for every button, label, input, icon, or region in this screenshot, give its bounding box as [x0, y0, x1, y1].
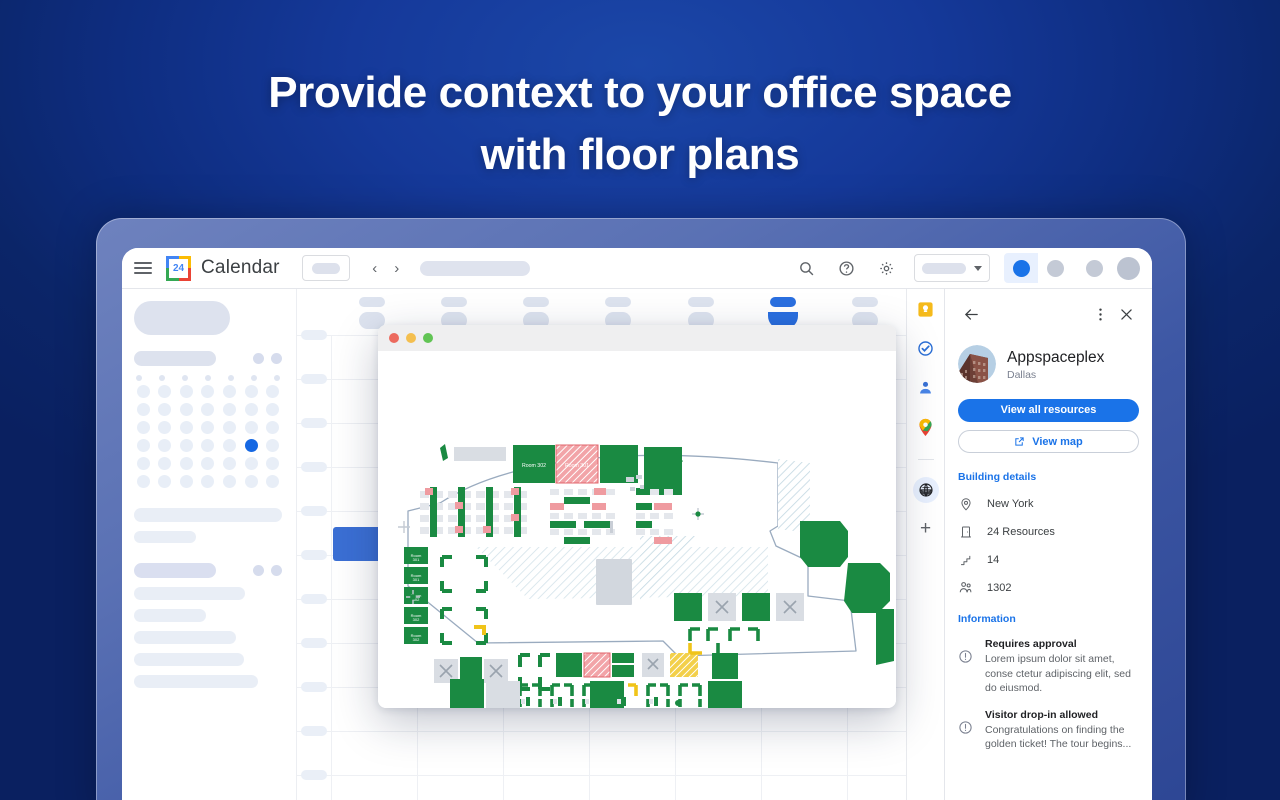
svg-text:302: 302	[413, 637, 420, 642]
floor-plan-canvas[interactable]: Room 302 Room 301	[378, 351, 896, 708]
keep-icon[interactable]	[917, 301, 934, 323]
hero-headline: Provide context to your office space wit…	[0, 62, 1280, 186]
svg-text:302: 302	[413, 617, 420, 622]
view-mode-option-2[interactable]	[1038, 253, 1072, 283]
detail-row-floors: 14	[958, 552, 1139, 567]
detail-value: 14	[987, 554, 999, 566]
apps-icon[interactable]	[1086, 260, 1103, 277]
search-icon[interactable]	[795, 257, 817, 279]
view-map-button[interactable]: View map	[958, 430, 1139, 453]
window-close-button[interactable]	[389, 333, 399, 343]
building-detail-panel: Appspaceplex Dallas View all resources V…	[944, 289, 1152, 800]
search-people-block	[134, 508, 282, 543]
mini-calendar-grid[interactable]	[134, 385, 282, 488]
calendar-sidebar	[122, 289, 296, 800]
help-icon[interactable]	[835, 257, 857, 279]
door-icon	[958, 524, 973, 539]
gear-icon[interactable]	[875, 257, 897, 279]
window-title-bar[interactable]	[378, 325, 896, 351]
add-panel-button[interactable]: +	[920, 520, 931, 537]
mini-calendar-today	[245, 439, 258, 452]
view-mode-option-1[interactable]	[1004, 253, 1038, 283]
contacts-icon[interactable]	[917, 379, 934, 401]
svg-text:301: 301	[413, 577, 420, 582]
building-city: Dallas	[1007, 369, 1104, 381]
app-title: Calendar	[201, 257, 280, 279]
create-event-button[interactable]	[134, 301, 230, 335]
detail-value: 24 Resources	[987, 526, 1055, 538]
stairs-icon	[958, 552, 973, 567]
next-period-button[interactable]: ›	[386, 257, 408, 279]
people-icon	[958, 580, 973, 595]
info-circle-icon	[958, 720, 973, 735]
today-button[interactable]	[302, 255, 350, 281]
calendar-logo-day: 24	[169, 259, 188, 278]
information-title: Visitor drop-in allowed	[985, 709, 1139, 721]
calendar-toolbar: 24 Calendar ‹ ›	[122, 248, 1152, 289]
workspace-icon[interactable]	[913, 477, 939, 503]
side-panel-rail: +	[906, 289, 944, 800]
floor-plan-window[interactable]: Room 302 Room 301	[378, 325, 896, 708]
google-calendar-logo: 24	[166, 256, 191, 281]
information-title: Requires approval	[985, 638, 1139, 650]
window-zoom-button[interactable]	[423, 333, 433, 343]
location-pin-icon	[958, 496, 973, 511]
view-map-label: View map	[1032, 436, 1083, 448]
more-vertical-icon[interactable]	[1087, 301, 1113, 327]
tasks-icon[interactable]	[917, 340, 934, 362]
mini-calendar-header	[134, 351, 282, 366]
prev-period-button[interactable]: ‹	[364, 257, 386, 279]
building-name: Appspaceplex	[1007, 348, 1104, 367]
building-summary: Appspaceplex Dallas	[958, 345, 1139, 383]
floor-plan-drawing: Room 302 Room 301	[378, 351, 896, 708]
information-body: Lorem ipsum dolor sit amet, conse ctetur…	[985, 652, 1139, 696]
building-details-heading: Building details	[958, 471, 1139, 483]
view-all-resources-button[interactable]: View all resources	[958, 399, 1139, 422]
detail-row-location: New York	[958, 496, 1139, 511]
hamburger-icon[interactable]	[132, 257, 154, 279]
information-body: Congratulations on finding the golden ti…	[985, 723, 1139, 752]
building-photo	[958, 345, 996, 383]
information-item: Visitor drop-in allowed Congratulations …	[958, 709, 1139, 752]
svg-text:301: 301	[413, 557, 420, 562]
svg-text:Room 302: Room 302	[522, 463, 546, 469]
information-heading: Information	[958, 613, 1139, 625]
view-selector[interactable]	[914, 254, 990, 282]
view-mode-toggle[interactable]	[1004, 253, 1072, 283]
avatar[interactable]	[1117, 257, 1140, 280]
detail-value: 1302	[987, 582, 1011, 594]
mini-calendar-nav[interactable]	[253, 353, 282, 364]
window-minimize-button[interactable]	[406, 333, 416, 343]
mini-calendar-weekday-row	[134, 375, 282, 385]
svg-text:Room 301: Room 301	[565, 463, 589, 469]
info-circle-icon	[958, 649, 973, 664]
back-arrow-icon[interactable]	[958, 301, 984, 327]
detail-row-occupancy: 1302	[958, 580, 1139, 595]
current-date-range	[420, 261, 530, 276]
maps-icon[interactable]	[917, 418, 934, 442]
external-link-icon	[1014, 436, 1025, 447]
detail-value: New York	[987, 498, 1033, 510]
information-item: Requires approval Lorem ipsum dolor sit …	[958, 638, 1139, 696]
my-calendars-block	[134, 563, 282, 688]
detail-row-resources: 24 Resources	[958, 524, 1139, 539]
hero-line-2: with floor plans	[0, 124, 1280, 186]
hero-line-1: Provide context to your office space	[0, 62, 1280, 124]
close-icon[interactable]	[1113, 301, 1139, 327]
detail-panel-header	[958, 299, 1139, 329]
mini-calendar-month	[134, 351, 216, 366]
